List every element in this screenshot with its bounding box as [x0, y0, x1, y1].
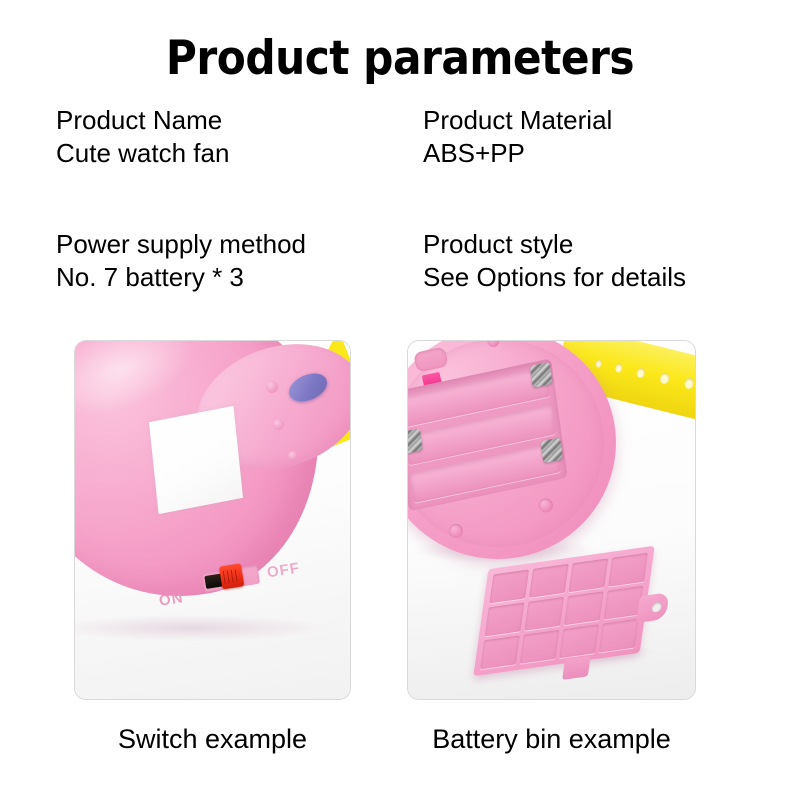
cover-cell — [559, 624, 599, 658]
spec-item-product-style: Product style See Options for details — [423, 228, 686, 294]
strap-hole — [683, 377, 694, 390]
spec-column-left: Product Name Cute watch fan Power supply… — [56, 104, 306, 294]
switch-photo-scene: ON OFF — [75, 341, 350, 699]
cover-cell — [569, 558, 609, 592]
white-label-sticker — [149, 406, 243, 514]
spec-label: Power supply method — [56, 228, 306, 261]
spec-item-power-supply: Power supply method No. 7 battery * 3 — [56, 228, 306, 294]
battery-photo-scene — [408, 341, 695, 699]
cover-cell — [529, 564, 569, 598]
cover-cell — [489, 569, 529, 603]
cover-cell — [485, 602, 525, 636]
spec-value: No. 7 battery * 3 — [56, 261, 306, 294]
cover-cell — [608, 553, 648, 587]
photo-captions: Switch example Battery bin example — [0, 722, 800, 772]
cover-cell — [520, 630, 560, 664]
photo-switch-example: ON OFF — [74, 340, 351, 700]
spec-label: Product Material — [423, 104, 686, 137]
caption-battery-bin-example: Battery bin example — [407, 722, 696, 756]
cover-cell — [480, 635, 520, 669]
spec-value: ABS+PP — [423, 137, 686, 170]
spec-label: Product style — [423, 228, 686, 261]
body-bump — [288, 451, 298, 461]
spec-label: Product Name — [56, 104, 306, 137]
spec-value: Cute watch fan — [56, 137, 306, 170]
photo-battery-bin-example — [407, 340, 696, 700]
cover-cell — [564, 591, 604, 625]
body-bump — [266, 381, 278, 393]
red-slider-switch — [219, 563, 244, 589]
spec-column-right: Product Material ABS+PP Product style Se… — [423, 104, 686, 294]
battery-spring — [530, 362, 553, 388]
body-bump — [273, 419, 284, 430]
strap-hole — [636, 367, 646, 379]
spec-item-product-name: Product Name Cute watch fan — [56, 104, 306, 170]
spec-item-product-material: Product Material ABS+PP — [423, 104, 686, 170]
caption-switch-example: Switch example — [74, 722, 351, 756]
strap-hole — [659, 372, 670, 385]
battery-spring — [540, 437, 563, 463]
strap-hole — [595, 359, 603, 368]
specifications-block: Product Name Cute watch fan Power supply… — [0, 104, 800, 304]
page-title: Product parameters — [0, 34, 800, 83]
cover-cell — [524, 597, 564, 631]
strap-hole — [614, 363, 623, 373]
spec-value: See Options for details — [423, 261, 686, 294]
cover-cell — [599, 619, 639, 653]
product-photos: ON OFF — [0, 340, 800, 702]
